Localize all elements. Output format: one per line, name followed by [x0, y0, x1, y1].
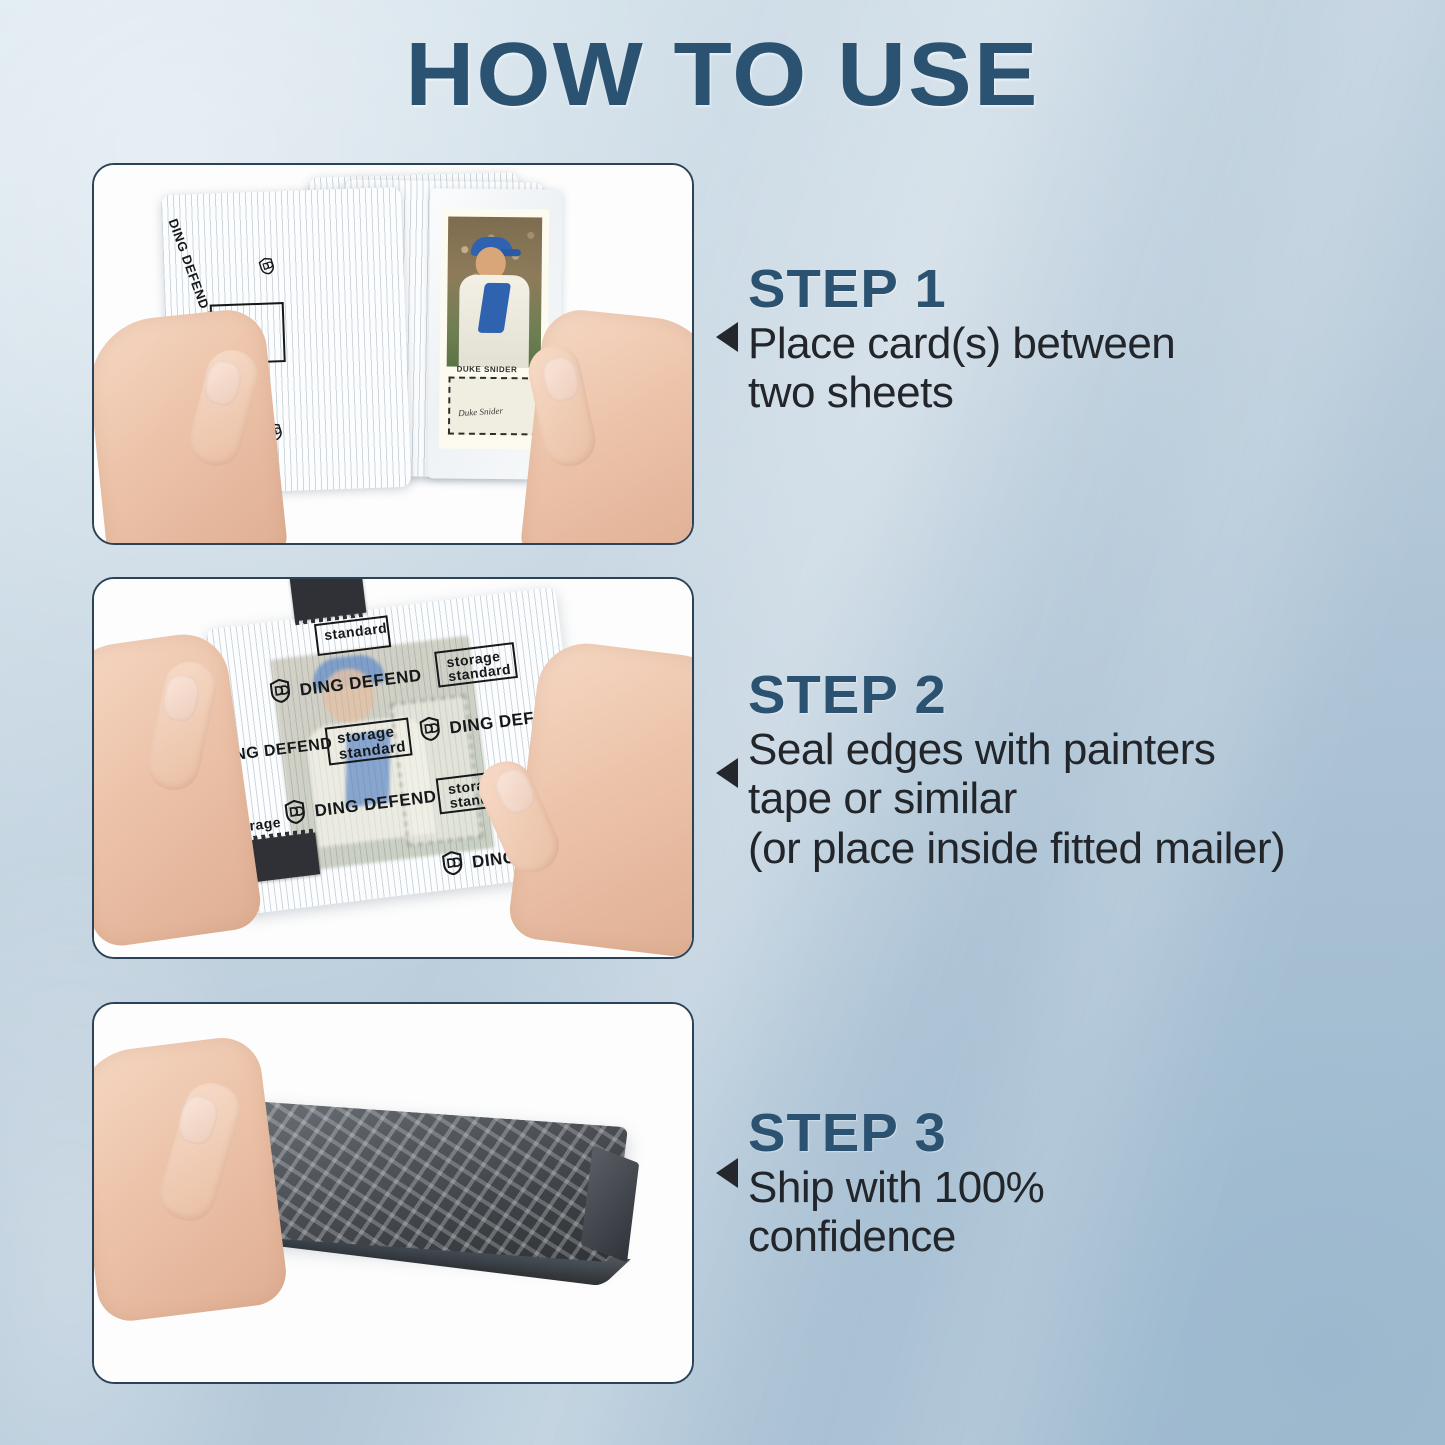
brand-text-ding-defend: DING DEFEND: [165, 217, 212, 311]
step-3-text-block: STEP 3 Ship with 100% confidence: [742, 1106, 1044, 1262]
left-hand: [92, 306, 289, 545]
step-2-heading: STEP 2: [748, 668, 1307, 723]
dd-shield-icon: [283, 799, 307, 825]
card-signature: Duke Snider: [458, 406, 503, 419]
left-triangle-icon: [716, 322, 738, 352]
step-1-line-1: Place card(s) between: [748, 319, 1175, 368]
step-1-text-block: STEP 1 Place card(s) between two sheets: [742, 262, 1175, 418]
left-triangle-icon: [716, 1158, 738, 1188]
step-2-photo: DING DEFEND DING DEFEND DING DEFEND: [94, 579, 692, 957]
step-1-line-2: two sheets: [748, 368, 1175, 417]
step-2-text-block: STEP 2 Seal edges with painters tape or …: [742, 668, 1285, 873]
step-2-photo-panel: DING DEFEND DING DEFEND DING DEFEND: [92, 577, 694, 959]
dd-shield-icon: [441, 850, 465, 876]
step-3-photo-panel: [92, 1002, 694, 1384]
card-photo-area: [447, 217, 543, 368]
step-3-line-1: Ship with 100%: [748, 1163, 1044, 1212]
dd-shield-icon: [257, 256, 277, 277]
dd-shield-icon: [268, 678, 292, 704]
step-1-photo: DING DEFEND storage standard DING DEFEND…: [94, 165, 692, 543]
page-title: HOW TO USE: [0, 30, 1445, 120]
trading-card: DUKE SNIDER Duke Snider: [439, 208, 550, 449]
left-triangle-icon: [716, 758, 738, 788]
step-3-line-2: confidence: [748, 1212, 1044, 1261]
step-3-heading: STEP 3: [748, 1106, 1056, 1161]
infographic-page: HOW TO USE DING DEFEND storage standard …: [0, 0, 1445, 1445]
card-name-box: DUKE SNIDER Duke Snider: [448, 377, 539, 436]
step-1-photo-panel: DING DEFEND storage standard DING DEFEND…: [92, 163, 694, 545]
step-3-photo: [94, 1004, 692, 1382]
painters-tape-top: [290, 577, 367, 621]
step-1-heading: STEP 1: [748, 262, 1192, 317]
step-2-line-3: (or place inside fitted mailer): [748, 824, 1285, 873]
card-player-name: DUKE SNIDER: [457, 365, 518, 375]
step-2-line-2: tape or similar: [748, 774, 1285, 823]
card-player-body: [459, 275, 530, 368]
dd-shield-icon: [418, 716, 442, 742]
step-2-line-1: Seal edges with painters: [748, 725, 1285, 774]
